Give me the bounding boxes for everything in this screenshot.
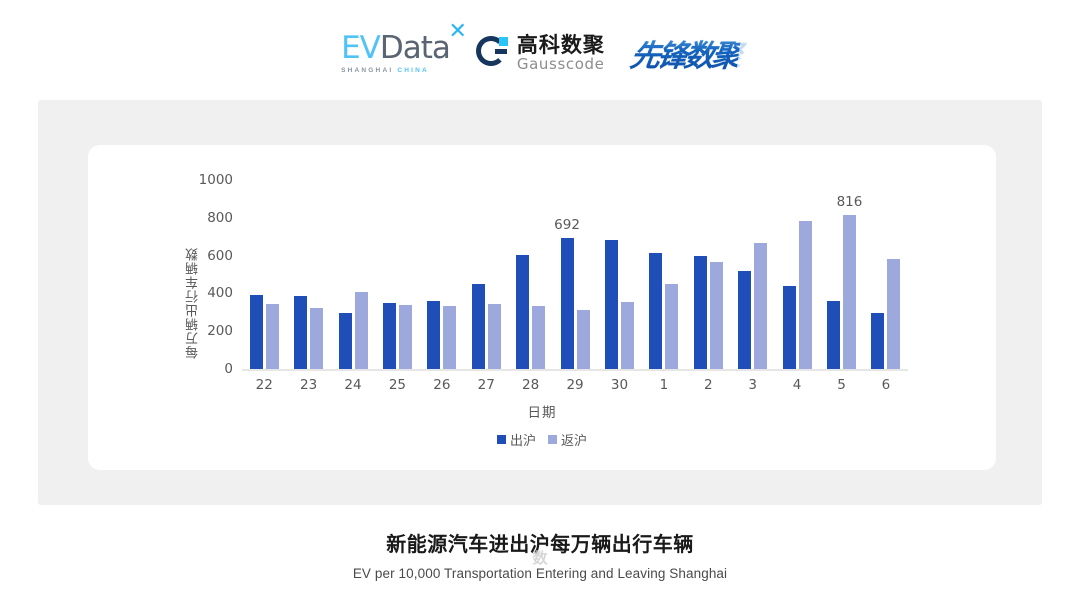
bar-chu-hu[interactable] — [516, 255, 529, 369]
caption-subtitle-en: EV per 10,000 Transportation Entering an… — [0, 566, 1080, 581]
bar-group — [775, 180, 819, 369]
gausscode-name-cn: 高科数聚 — [517, 35, 605, 56]
legend-item[interactable]: 出沪 — [497, 430, 536, 449]
bar-chu-hu[interactable] — [738, 271, 751, 369]
x-axis-tick-label: 24 — [331, 377, 375, 393]
x-axis-tick-label: 2 — [686, 377, 730, 393]
x-axis-tick-label: 23 — [286, 377, 330, 393]
bar-fan-hu[interactable] — [532, 306, 545, 369]
bar-fan-hu[interactable]: 816 — [843, 215, 856, 369]
caption-artifact: 数 — [532, 547, 547, 568]
bar-group — [686, 180, 730, 369]
evdata-logo: EVData ✕ SHANGHAI CHINA — [341, 33, 450, 74]
x-axis-ticks: 222324252627282930123456 — [242, 377, 908, 393]
x-axis-tick-label: 25 — [375, 377, 419, 393]
x-axis-tick-label: 6 — [864, 377, 908, 393]
legend-swatch-icon — [497, 435, 506, 444]
x-axis-tick-label: 1 — [642, 377, 686, 393]
evdata-tagline: SHANGHAI CHINA — [341, 67, 429, 74]
bar-fan-hu[interactable] — [488, 304, 501, 369]
bar-chu-hu[interactable] — [472, 284, 485, 369]
bar-group — [331, 180, 375, 369]
bar-group: 692 — [553, 180, 597, 369]
y-axis-tick-label: 800 — [193, 210, 233, 226]
bar-chu-hu[interactable]: 692 — [561, 238, 574, 369]
bar-chu-hu[interactable] — [871, 313, 884, 369]
gausscode-name-en: Gausscode — [517, 57, 605, 72]
legend-item[interactable]: 返沪 — [548, 430, 587, 449]
bar-group: 816 — [819, 180, 863, 369]
bar-chu-hu[interactable] — [605, 240, 618, 369]
logo-bar: EVData ✕ SHANGHAI CHINA 高科数聚 Gausscode 先… — [0, 22, 1080, 84]
x-axis-baseline — [242, 369, 908, 371]
y-axis-tick-label: 200 — [193, 323, 233, 339]
chart-card: 每万辆出行车辆数 10008006004002000 692816 222324… — [88, 145, 996, 470]
evdata-tagline-country: CHINA — [397, 67, 429, 74]
bar-fan-hu[interactable] — [355, 292, 368, 369]
x-axis-tick-label: 3 — [730, 377, 774, 393]
evdata-wordmark: EVData ✕ — [341, 33, 450, 64]
xianfeng-name-cn: 先锋数聚 — [628, 31, 742, 75]
xianfeng-logo: 先锋数聚 — [631, 31, 739, 75]
evdata-suffix: Data — [380, 33, 450, 64]
bar-fan-hu[interactable] — [710, 262, 723, 369]
bar-fan-hu[interactable] — [310, 308, 323, 369]
bar-fan-hu[interactable] — [621, 302, 634, 369]
gausscode-ring-icon — [476, 36, 510, 70]
x-axis-tick-label: 29 — [553, 377, 597, 393]
gausscode-logo: 高科数聚 Gausscode — [476, 35, 605, 72]
bar-chu-hu[interactable] — [427, 301, 440, 369]
x-axis-title: 日期 — [88, 401, 996, 421]
y-axis-tick-label: 600 — [193, 248, 233, 264]
legend-label: 出沪 — [510, 430, 536, 449]
bar-group — [864, 180, 908, 369]
bar-fan-hu[interactable] — [443, 306, 456, 369]
bar-fan-hu[interactable] — [799, 221, 812, 369]
bar-chu-hu[interactable] — [783, 286, 796, 369]
bar-fan-hu[interactable] — [665, 284, 678, 369]
bar-chu-hu[interactable] — [649, 253, 662, 369]
bar-fan-hu[interactable] — [266, 304, 279, 369]
y-axis-tick-label: 0 — [193, 361, 233, 377]
bar-fan-hu[interactable] — [754, 243, 767, 369]
legend-swatch-icon — [548, 435, 557, 444]
x-axis-tick-label: 5 — [819, 377, 863, 393]
legend-label: 返沪 — [561, 430, 587, 449]
bar-group — [730, 180, 774, 369]
bar-fan-hu[interactable] — [399, 305, 412, 369]
bar-group — [508, 180, 552, 369]
plot-area: 692816 — [242, 180, 908, 369]
y-axis-tick-label: 400 — [193, 285, 233, 301]
bar-group — [642, 180, 686, 369]
x-axis-tick-label: 28 — [508, 377, 552, 393]
bar-group — [597, 180, 641, 369]
x-axis-tick-label: 22 — [242, 377, 286, 393]
chart-legend: 出沪返沪 — [88, 430, 996, 449]
bar-group — [420, 180, 464, 369]
bar-chu-hu[interactable] — [827, 301, 840, 369]
bar-chu-hu[interactable] — [339, 313, 352, 369]
bar-chu-hu[interactable] — [294, 296, 307, 369]
bar-value-label: 816 — [837, 194, 863, 210]
bar-group — [464, 180, 508, 369]
bar-group — [242, 180, 286, 369]
bar-group — [286, 180, 330, 369]
bar-chart: 每万辆出行车辆数 10008006004002000 692816 222324… — [88, 145, 996, 470]
x-mark-icon: ✕ — [448, 21, 466, 43]
x-axis-tick-label: 27 — [464, 377, 508, 393]
bar-chu-hu[interactable] — [383, 303, 396, 369]
evdata-tagline-city: SHANGHAI — [341, 67, 397, 74]
bar-value-label: 692 — [554, 217, 580, 233]
bar-chu-hu[interactable] — [250, 295, 263, 369]
bar-group — [375, 180, 419, 369]
figure-caption: 新能源汽车进出沪每万辆出行车辆 数 EV per 10,000 Transpor… — [0, 528, 1080, 581]
y-axis-tick-label: 1000 — [193, 172, 233, 188]
evdata-prefix: EV — [341, 33, 380, 64]
bar-chu-hu[interactable] — [694, 256, 707, 369]
bar-fan-hu[interactable] — [577, 310, 590, 369]
x-axis-tick-label: 4 — [775, 377, 819, 393]
bar-fan-hu[interactable] — [887, 259, 900, 369]
x-axis-tick-label: 30 — [597, 377, 641, 393]
x-axis-tick-label: 26 — [420, 377, 464, 393]
